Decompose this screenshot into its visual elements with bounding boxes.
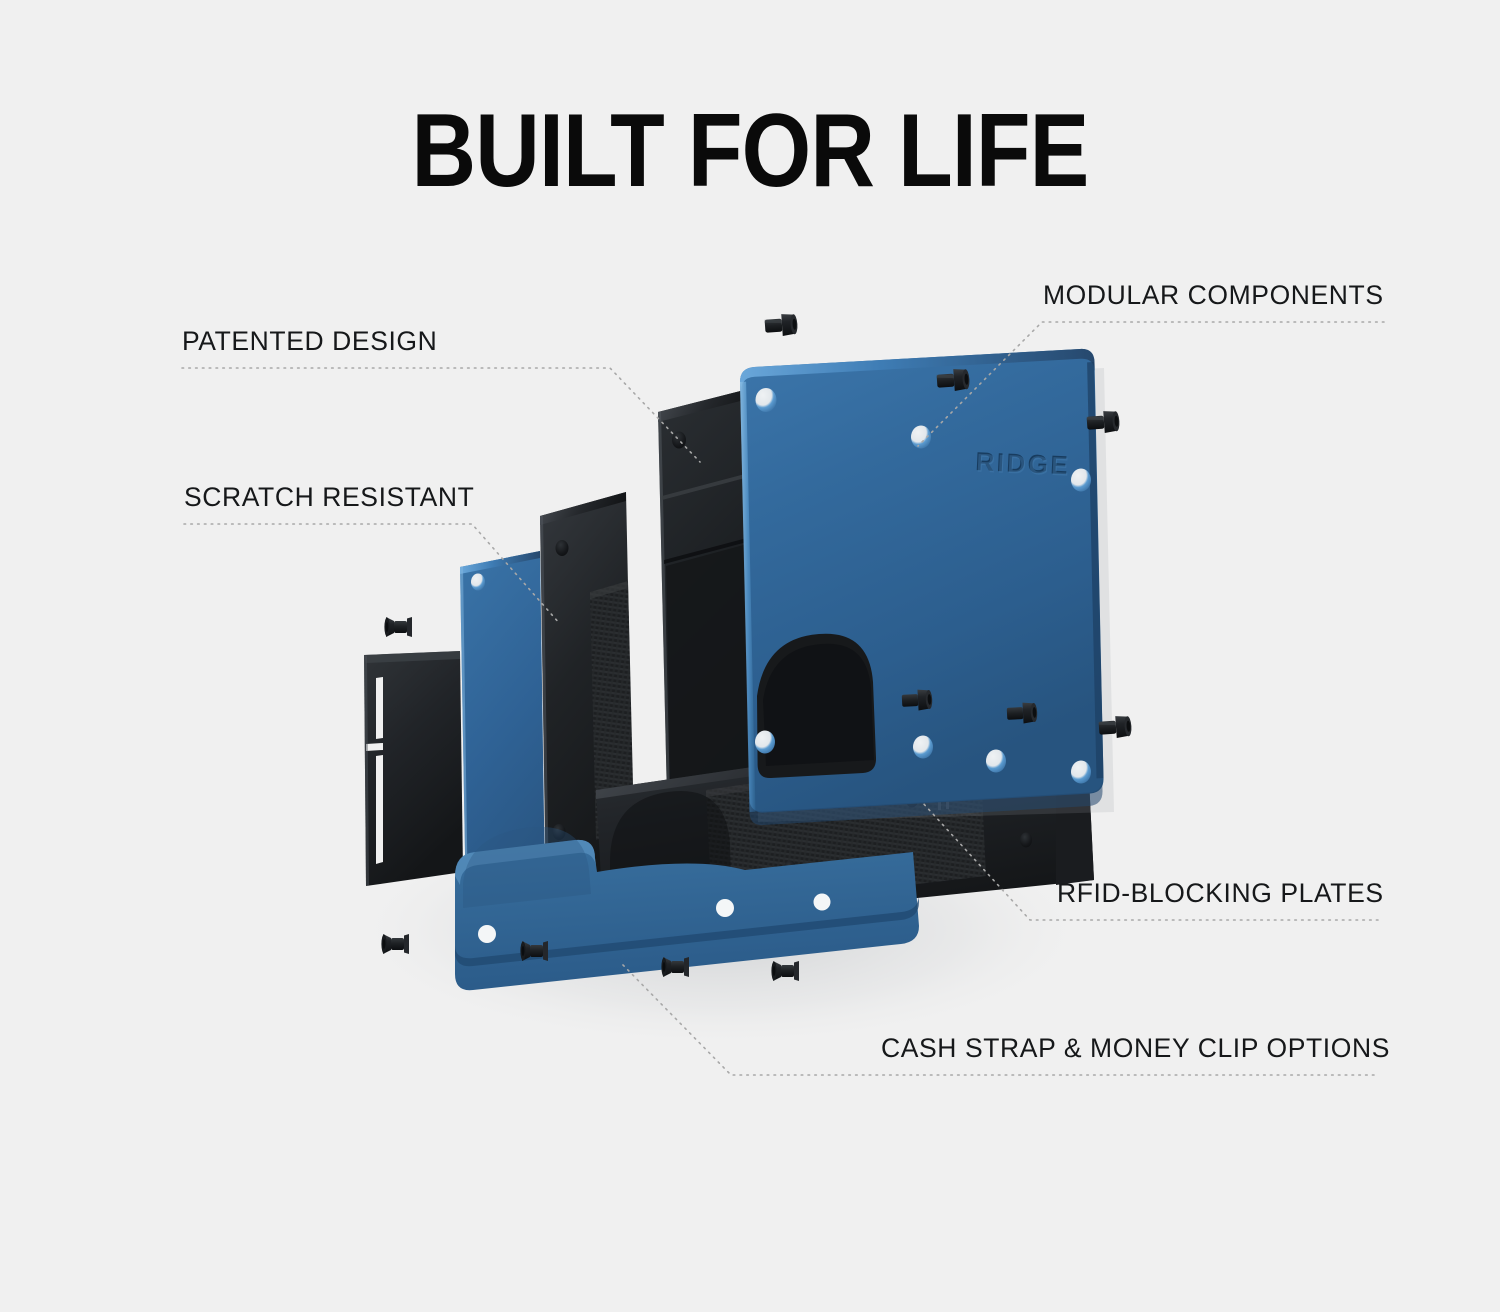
- callout-scratch-resistant: SCRATCH RESISTANT: [184, 482, 474, 513]
- callout-cash-strap-money-clip: CASH STRAP & MONEY CLIP OPTIONS: [881, 1033, 1390, 1064]
- callout-patented-design: PATENTED DESIGN: [182, 326, 437, 357]
- callout-modular-components: MODULAR COMPONENTS: [1043, 280, 1384, 311]
- component-money-clip: [364, 651, 463, 886]
- component-rfid-plate-front: RIDGE RIDGE: [740, 349, 1114, 825]
- screw: [384, 617, 412, 637]
- exploded-view-illustration: RIDGE RIDGE: [0, 0, 1500, 1312]
- screw: [764, 313, 798, 337]
- callout-rfid-blocking-plates: RFID-BLOCKING PLATES: [1057, 878, 1384, 909]
- infographic-canvas: BUILT FOR LIFE: [0, 0, 1500, 1312]
- svg-text:RIDGE: RIDGE: [976, 448, 1072, 482]
